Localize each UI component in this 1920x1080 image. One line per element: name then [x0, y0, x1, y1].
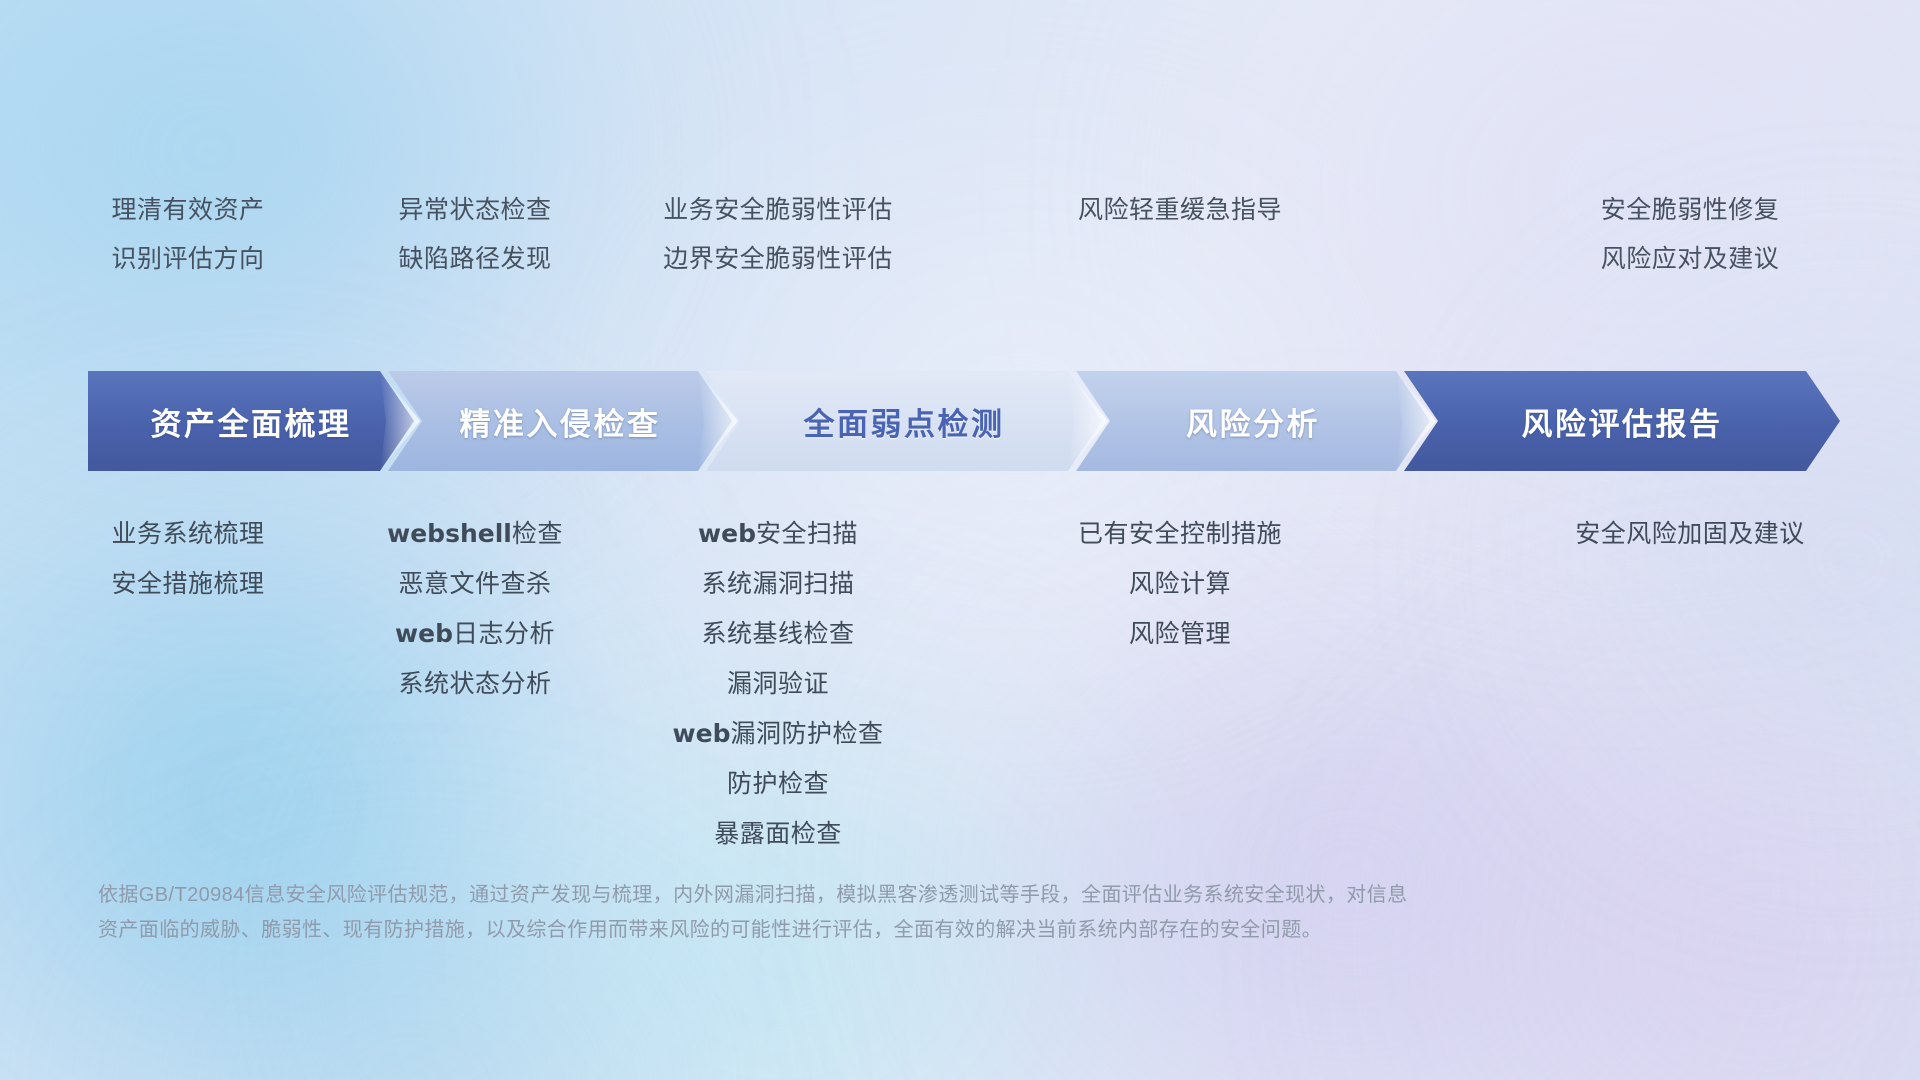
- chevron-step-label: 风险分析: [1186, 399, 1320, 444]
- top-item: 安全脆弱性修复: [1540, 186, 1840, 235]
- bottom-item: 系统基线检查: [628, 609, 928, 659]
- bottom-item: web漏洞防护检查: [628, 709, 928, 759]
- bottom-item: 安全措施梳理: [38, 559, 338, 609]
- chevron-step-label: 全面弱点检测: [804, 399, 1005, 444]
- bottom-item: web日志分析: [325, 609, 625, 659]
- top-items-intrusion-check: 异常状态检查 缺陷路径发现: [325, 186, 625, 284]
- bottom-item: 安全风险加固及建议: [1530, 509, 1850, 559]
- chevron-step-label: 资产全面梳理: [151, 399, 352, 444]
- bottom-item: webshell检查: [325, 509, 625, 559]
- footer-line: 资产面临的威胁、脆弱性、现有防护措施，以及综合作用而带来风险的可能性进行评估，全…: [98, 913, 1618, 948]
- chevron-step-label: 精准入侵检查: [460, 399, 661, 444]
- bottom-item: 系统漏洞扫描: [628, 559, 928, 609]
- bottom-item: 暴露面检查: [628, 809, 928, 859]
- bottom-items-risk-report: 安全风险加固及建议: [1530, 509, 1850, 559]
- top-item: 缺陷路径发现: [325, 235, 625, 284]
- bottom-item: 风险计算: [1030, 559, 1330, 609]
- top-item: 理清有效资产: [38, 186, 338, 235]
- top-item: 识别评估方向: [38, 235, 338, 284]
- process-chevron-band: 资产全面梳理 精准入侵检查 全面弱点检测 风险分析 风险评估报告: [88, 371, 1840, 471]
- top-item: 边界安全脆弱性评估: [608, 235, 948, 284]
- chevron-step-intrusion-check[interactable]: 精准入侵检查: [388, 371, 732, 471]
- bottom-item: 系统状态分析: [325, 659, 625, 709]
- bottom-items-risk-analysis: 已有安全控制措施 风险计算 风险管理: [1030, 509, 1330, 659]
- bottom-item: 漏洞验证: [628, 659, 928, 709]
- bottom-item: 风险管理: [1030, 609, 1330, 659]
- top-items-weakness-detection: 业务安全脆弱性评估 边界安全脆弱性评估: [608, 186, 948, 284]
- bottom-items-asset-inventory: 业务系统梳理 安全措施梳理: [38, 509, 338, 609]
- top-items-risk-report: 安全脆弱性修复 风险应对及建议: [1540, 186, 1840, 284]
- bottom-items-intrusion-check: webshell检查 恶意文件查杀 web日志分析 系统状态分析: [325, 509, 625, 709]
- process-diagram: 理清有效资产 识别评估方向 异常状态检查 缺陷路径发现 业务安全脆弱性评估 边界…: [0, 0, 1920, 1080]
- top-item: 业务安全脆弱性评估: [608, 186, 948, 235]
- chevron-step-risk-analysis[interactable]: 风险分析: [1076, 371, 1430, 471]
- top-items-risk-analysis: 风险轻重缓急指导: [1030, 186, 1330, 235]
- top-item: 风险轻重缓急指导: [1030, 186, 1330, 235]
- bottom-item: 业务系统梳理: [38, 509, 338, 559]
- footer-line: 依据GB/T20984信息安全风险评估规范，通过资产发现与梳理，内外网漏洞扫描，…: [98, 878, 1618, 913]
- bottom-items-weakness-detection: web安全扫描 系统漏洞扫描 系统基线检查 漏洞验证 web漏洞防护检查 防护检…: [628, 509, 928, 859]
- footer-description: 依据GB/T20984信息安全风险评估规范，通过资产发现与梳理，内外网漏洞扫描，…: [98, 878, 1618, 948]
- bottom-item: 恶意文件查杀: [325, 559, 625, 609]
- chevron-step-weakness-detection[interactable]: 全面弱点检测: [706, 371, 1102, 471]
- chevron-step-asset-inventory[interactable]: 资产全面梳理: [88, 371, 414, 471]
- bottom-item: 防护检查: [628, 759, 928, 809]
- chevron-step-risk-report[interactable]: 风险评估报告: [1404, 371, 1840, 471]
- bottom-item: web安全扫描: [628, 509, 928, 559]
- top-item: 风险应对及建议: [1540, 235, 1840, 284]
- chevron-step-label: 风险评估报告: [1522, 399, 1723, 444]
- top-items-asset-inventory: 理清有效资产 识别评估方向: [38, 186, 338, 284]
- top-item: 异常状态检查: [325, 186, 625, 235]
- bottom-item: 已有安全控制措施: [1030, 509, 1330, 559]
